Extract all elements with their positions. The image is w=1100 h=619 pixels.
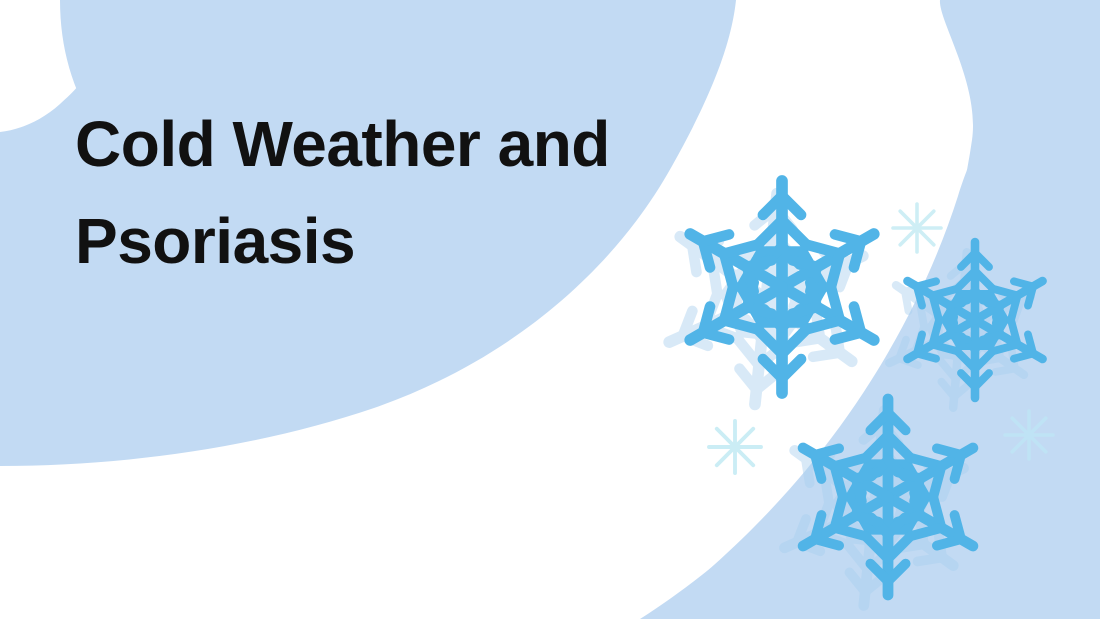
slide-canvas: Cold Weather and Psoriasis (0, 0, 1100, 619)
page-title: Cold Weather and Psoriasis (75, 96, 775, 291)
star-small-upper-right (893, 204, 941, 252)
title-block: Cold Weather and Psoriasis (75, 96, 775, 291)
star-small-far-right (1005, 411, 1053, 459)
star-small-lower-left (709, 421, 761, 473)
background-artwork (0, 0, 1100, 619)
